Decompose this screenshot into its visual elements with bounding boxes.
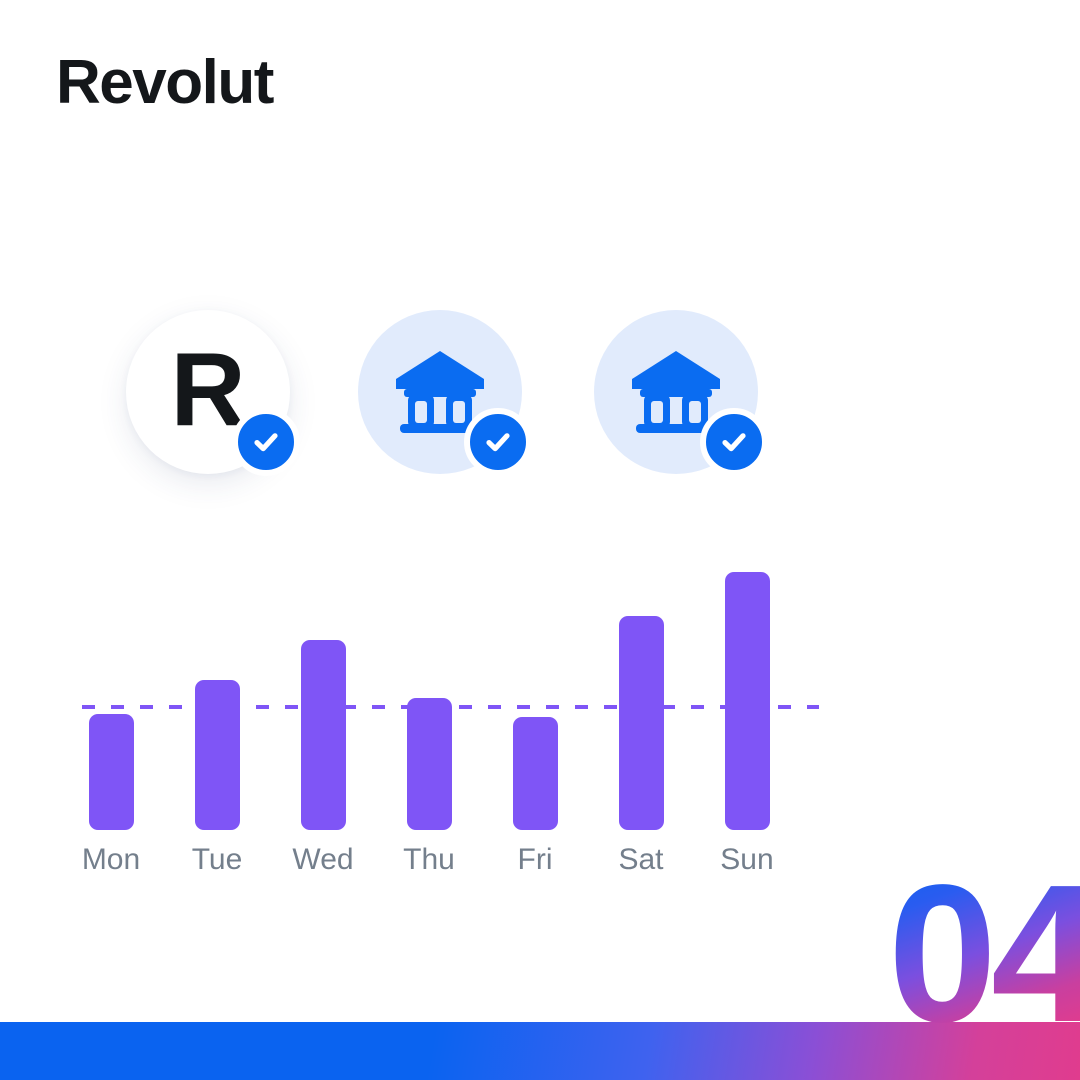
page-number: 04 xyxy=(888,856,1080,1052)
chart-bar[interactable] xyxy=(195,680,240,830)
chart-bar[interactable] xyxy=(513,717,558,830)
chart-bar[interactable] xyxy=(89,714,134,830)
chart-x-label: Sat xyxy=(581,840,701,880)
chart-x-label: Tue xyxy=(157,840,277,880)
slide-canvas: Revolut R xyxy=(0,0,1080,1080)
chart-bar[interactable] xyxy=(619,616,664,830)
chart-x-axis-labels: MonTueWedThuFriSatSun xyxy=(82,840,822,880)
chart-x-label: Sun xyxy=(687,840,807,880)
chart-bar[interactable] xyxy=(301,640,346,830)
chart-x-label: Mon xyxy=(51,840,171,880)
chart-bar[interactable] xyxy=(407,698,452,830)
chart-bar[interactable] xyxy=(725,572,770,830)
chart-x-label: Thu xyxy=(369,840,489,880)
chart-x-label: Fri xyxy=(475,840,595,880)
chart-x-label: Wed xyxy=(263,840,383,880)
chart-plot-area xyxy=(82,540,822,830)
chart-reference-line xyxy=(82,705,819,709)
